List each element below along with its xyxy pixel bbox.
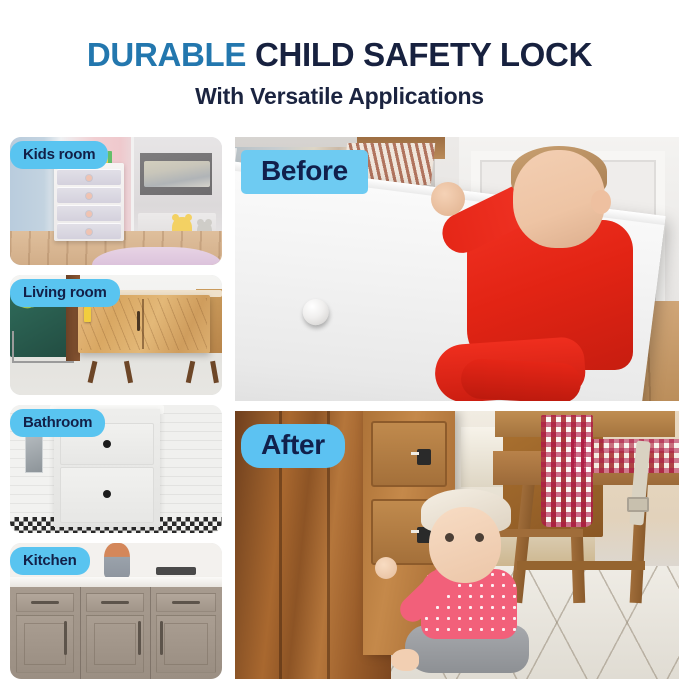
dresser-drawer (57, 205, 121, 221)
page-subtitle: With Versatile Applications (0, 85, 679, 108)
kitchen-countertop (10, 577, 222, 587)
badge-kitchen: Kitchen (10, 547, 90, 575)
baby-foot (391, 649, 419, 671)
baby-eye (475, 533, 484, 542)
yellow-safety-lock-strap (84, 307, 91, 322)
drawer-knob (86, 193, 92, 199)
dresser-drawer (57, 187, 121, 203)
drawer-knob (103, 440, 111, 448)
sideboard-door-seam (142, 299, 144, 349)
baby-ear (591, 190, 611, 214)
cabinet-door (156, 615, 216, 673)
panel-kids-room[interactable]: Kids room (10, 137, 222, 265)
badge-living-room: Living room (10, 279, 120, 307)
cabinet-drawer (156, 593, 216, 612)
counter-object (156, 567, 196, 575)
cabinet-drawer (371, 421, 447, 487)
badge-before: Before (241, 150, 368, 194)
drawer-knob (86, 175, 92, 181)
drawer-knob (301, 298, 330, 327)
baby-leg (460, 358, 582, 401)
person-silhouette (104, 543, 130, 579)
kids-dresser (54, 163, 124, 241)
cabinet-door (86, 615, 144, 673)
drawer-pull (31, 601, 59, 604)
cabinet-drawer (16, 593, 74, 612)
sideboard-handle (137, 311, 140, 331)
image-gallery: Kids room Living room (0, 133, 679, 679)
drawer-knob (86, 211, 92, 217)
baby-pink-shirt (387, 483, 552, 673)
baby-red-onesie (429, 146, 659, 401)
kitchen-cabinets (10, 587, 222, 679)
baby-eye (445, 533, 454, 542)
panel-after[interactable]: After (235, 411, 679, 679)
title-highlight: DURABLE (87, 36, 246, 73)
baby-hand (375, 557, 397, 579)
badge-bathroom: Bathroom (10, 409, 105, 437)
cabinet-drawer (86, 593, 144, 612)
baby-head (429, 507, 501, 583)
panel-living-room[interactable]: Living room (10, 275, 222, 395)
door-pull (160, 621, 163, 655)
title-rest: CHILD SAFETY LOCK (255, 36, 592, 73)
dresser-drawer (57, 169, 121, 185)
panel-bathroom[interactable]: Bathroom (10, 405, 222, 533)
strap-buckle (627, 497, 649, 512)
panel-before[interactable]: Before (235, 137, 679, 401)
badge-after: After (241, 424, 345, 468)
vanity-drawer-bottom (60, 467, 154, 523)
header-block: DURABLE CHILD SAFETY LOCK With Versatile… (0, 0, 679, 108)
cabinet-column (150, 587, 222, 679)
badge-kids-room: Kids room (10, 141, 108, 169)
door-pull (64, 621, 67, 655)
drawer-pull (101, 601, 129, 604)
metal-stand (12, 331, 74, 363)
bunk-bedding (144, 161, 210, 187)
door-pull (138, 621, 141, 655)
safety-lock-latch (417, 449, 431, 465)
cabinet-column (10, 587, 81, 679)
dresser-drawer (57, 223, 121, 239)
drawer-knob (103, 490, 111, 498)
page-title: DURABLE CHILD SAFETY LOCK (0, 38, 679, 71)
cabinet-column (80, 587, 151, 679)
panel-kitchen[interactable]: Kitchen (10, 543, 222, 679)
bathroom-wall-right (156, 405, 222, 533)
baby-hand (431, 182, 465, 216)
drawer-knob (86, 229, 92, 235)
drawer-pull (172, 601, 200, 604)
